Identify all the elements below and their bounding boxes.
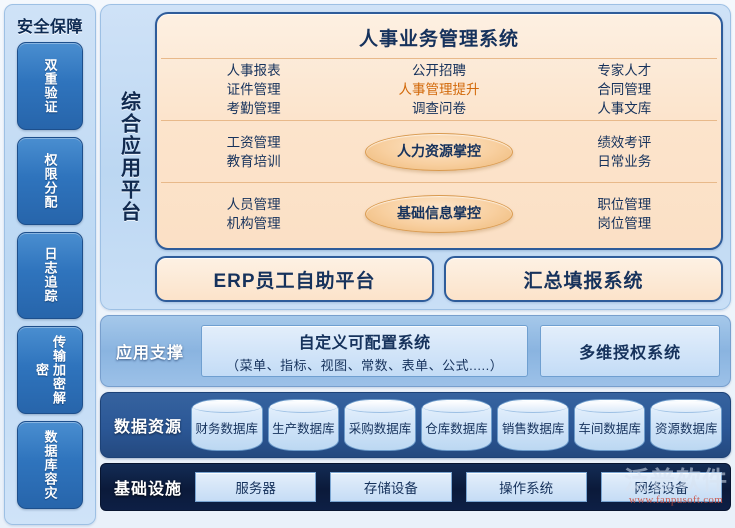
- hr-item-highlighted[interactable]: 人事管理提升: [346, 80, 531, 99]
- hr-item[interactable]: 教育培训: [161, 152, 346, 171]
- infrastructure-tier: 基础设施 服务器 存储设备 操作系统 网络设备 泛普软件 www.fanpuso…: [100, 463, 731, 511]
- infrastructure-list: 服务器 存储设备 操作系统 网络设备: [195, 472, 722, 502]
- architecture-diagram: 安全保障 双重验证 权限分配 日志追踪 传输加密解密 数据库容灾 综合应用平台 …: [0, 0, 735, 528]
- database-list: 财务数据库 生产数据库 采购数据库 仓库数据库 销售数据库 车间数据库 资源数据…: [191, 399, 722, 451]
- pill-summary-reporting[interactable]: 汇总填报系统: [444, 256, 723, 302]
- infrastructure-item-server[interactable]: 服务器: [195, 472, 316, 502]
- hr-cell-right: 绩效考评 日常业务: [532, 133, 717, 171]
- hr-item[interactable]: 公开招聘: [346, 61, 531, 80]
- hr-item[interactable]: 调查问卷: [346, 99, 531, 118]
- custom-configurable-system-box[interactable]: 自定义可配置系统 （菜单、指标、视图、常数、表单、公式.....）: [201, 325, 528, 377]
- database-cylinder-icon[interactable]: 财务数据库: [191, 399, 263, 451]
- data-resources-tier: 数据资源 财务数据库 生产数据库 采购数据库 仓库数据库 销售数据库 车间数据库…: [100, 392, 731, 458]
- security-item-dual-verification[interactable]: 双重验证: [17, 42, 83, 130]
- database-cylinder-icon[interactable]: 仓库数据库: [421, 399, 493, 451]
- database-label: 采购数据库: [349, 414, 412, 437]
- application-support-label: 应用支撑: [111, 339, 189, 363]
- hr-cell-left: 工资管理 教育培训: [161, 133, 346, 171]
- hr-system-title: 人事业务管理系统: [161, 20, 717, 58]
- infrastructure-item-os[interactable]: 操作系统: [466, 472, 587, 502]
- tier-stack: 综合应用平台 人事业务管理系统 人事报表 证件管理 考勤管理 公开招聘 人事管理…: [100, 4, 731, 525]
- database-label: 销售数据库: [502, 414, 565, 437]
- hr-item[interactable]: 人事文库: [532, 99, 717, 118]
- infrastructure-item-network[interactable]: 网络设备: [601, 472, 722, 502]
- multi-dimension-auth-system-box[interactable]: 多维授权系统: [540, 325, 720, 377]
- platform-body: 人事业务管理系统 人事报表 证件管理 考勤管理 公开招聘 人事管理提升 调查问卷: [155, 12, 723, 302]
- database-label: 车间数据库: [578, 414, 641, 437]
- application-support-tier: 应用支撑 自定义可配置系统 （菜单、指标、视图、常数、表单、公式.....） 多…: [100, 315, 731, 387]
- hr-item[interactable]: 工资管理: [161, 133, 346, 152]
- hr-item[interactable]: 专家人才: [532, 61, 717, 80]
- database-label: 仓库数据库: [425, 414, 488, 437]
- database-cylinder-icon[interactable]: 车间数据库: [574, 399, 646, 451]
- database-label: 生产数据库: [272, 414, 335, 437]
- hr-system-card: 人事业务管理系统 人事报表 证件管理 考勤管理 公开招聘 人事管理提升 调查问卷: [155, 12, 723, 250]
- hr-cell-left: 人员管理 机构管理: [161, 195, 346, 233]
- hr-cell-middle: 基础信息掌控: [346, 195, 531, 233]
- hr-cell-right: 专家人才 合同管理 人事文库: [532, 61, 717, 118]
- security-item-permission-allocation[interactable]: 权限分配: [17, 137, 83, 225]
- hr-ellipse-basic-information-control[interactable]: 基础信息掌控: [365, 195, 513, 233]
- platform-label: 综合应用平台: [108, 12, 150, 302]
- hr-item[interactable]: 绩效考评: [532, 133, 717, 152]
- hr-cell-middle: 人力资源掌控: [346, 133, 531, 171]
- hr-cell-left: 人事报表 证件管理 考勤管理: [161, 61, 346, 118]
- data-resources-label: 数据资源: [109, 413, 187, 437]
- infrastructure-label: 基础设施: [109, 475, 187, 499]
- hr-item[interactable]: 合同管理: [532, 80, 717, 99]
- hr-row: 工资管理 教育培训 人力资源掌控 绩效考评 日常业务: [161, 120, 717, 182]
- platform-pill-row: ERP员工自助平台 汇总填报系统: [155, 256, 723, 302]
- hr-item[interactable]: 考勤管理: [161, 99, 346, 118]
- hr-item[interactable]: 日常业务: [532, 152, 717, 171]
- hr-row: 人事报表 证件管理 考勤管理 公开招聘 人事管理提升 调查问卷 专家人才 合同管…: [161, 58, 717, 120]
- auth-system-label: 多维授权系统: [579, 339, 681, 363]
- security-title: 安全保障: [17, 10, 83, 42]
- hr-item[interactable]: 岗位管理: [532, 214, 717, 233]
- hr-item[interactable]: 证件管理: [161, 80, 346, 99]
- hr-row: 人员管理 机构管理 基础信息掌控 职位管理 岗位管理: [161, 182, 717, 244]
- database-label: 财务数据库: [196, 414, 259, 437]
- database-cylinder-icon[interactable]: 采购数据库: [344, 399, 416, 451]
- database-cylinder-icon[interactable]: 销售数据库: [497, 399, 569, 451]
- hr-item[interactable]: 机构管理: [161, 214, 346, 233]
- database-label: 资源数据库: [655, 414, 718, 437]
- hr-item[interactable]: 人员管理: [161, 195, 346, 214]
- security-item-database-disaster-recovery[interactable]: 数据库容灾: [17, 421, 83, 509]
- infrastructure-item-storage[interactable]: 存储设备: [330, 472, 451, 502]
- platform-tier: 综合应用平台 人事业务管理系统 人事报表 证件管理 考勤管理 公开招聘 人事管理…: [100, 4, 731, 310]
- security-sidebar: 安全保障 双重验证 权限分配 日志追踪 传输加密解密 数据库容灾: [4, 4, 96, 525]
- security-item-transmission-encryption[interactable]: 传输加密解密: [17, 326, 83, 414]
- custom-system-title: 自定义可配置系统: [299, 329, 431, 353]
- database-cylinder-icon[interactable]: 资源数据库: [650, 399, 722, 451]
- pill-erp-self-service[interactable]: ERP员工自助平台: [155, 256, 434, 302]
- custom-system-subtitle: （菜单、指标、视图、常数、表单、公式.....）: [226, 355, 503, 374]
- hr-ellipse-human-resource-control[interactable]: 人力资源掌控: [365, 133, 513, 171]
- hr-cell-middle: 公开招聘 人事管理提升 调查问卷: [346, 61, 531, 118]
- hr-cell-right: 职位管理 岗位管理: [532, 195, 717, 233]
- security-item-log-tracking[interactable]: 日志追踪: [17, 232, 83, 320]
- hr-item[interactable]: 职位管理: [532, 195, 717, 214]
- hr-item[interactable]: 人事报表: [161, 61, 346, 80]
- database-cylinder-icon[interactable]: 生产数据库: [268, 399, 340, 451]
